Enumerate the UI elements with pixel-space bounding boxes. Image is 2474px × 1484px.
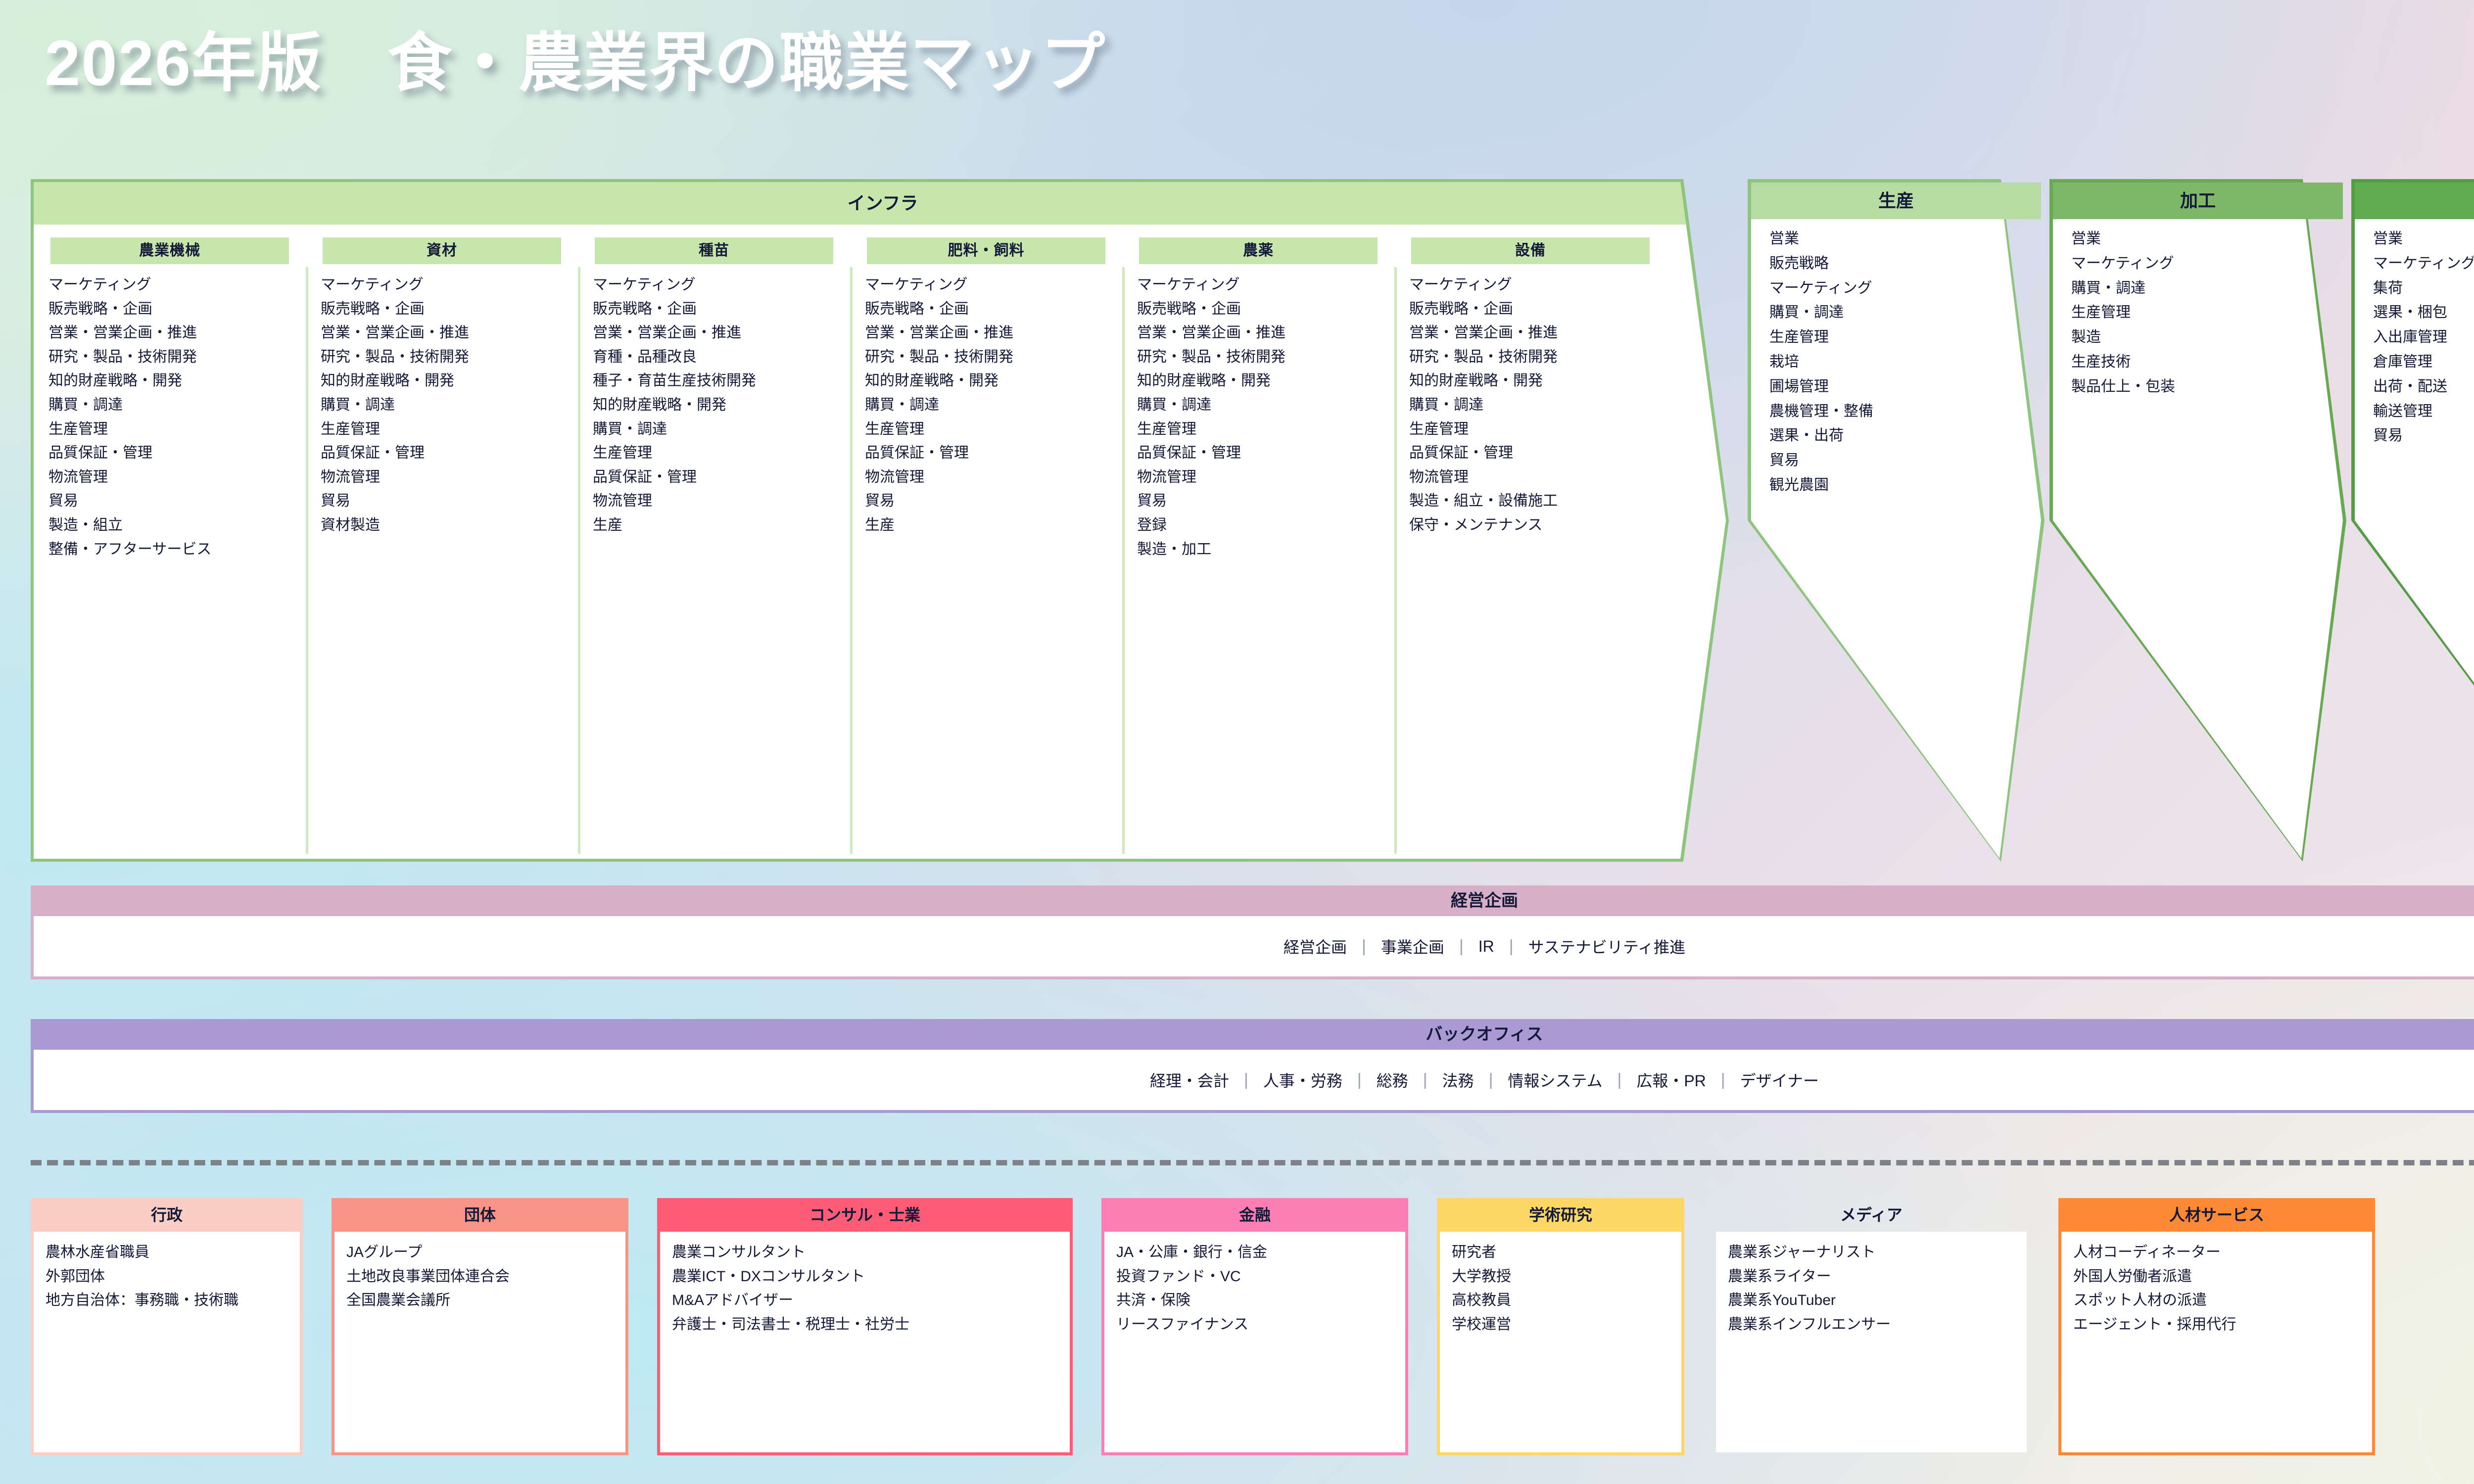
job-item: 登録	[1137, 513, 1394, 538]
job-item: 製造・組立	[48, 513, 306, 538]
card-job-list: 人材コーディネーター外国人労働者派遣スポット人材の派遣エージェント・採用代行	[2073, 1241, 2368, 1337]
job-item: 農業系YouTuber	[1728, 1289, 2023, 1313]
card-header: 行政	[31, 1198, 303, 1232]
job-item: 外国人労働者派遣	[2073, 1265, 2368, 1289]
band-item: 事業企画	[1366, 935, 1459, 958]
job-item: 貿易	[865, 489, 1122, 513]
job-item: 製造	[2071, 325, 2336, 350]
job-item: 生産管理	[2071, 300, 2336, 325]
job-item: 生産管理	[865, 417, 1122, 442]
job-item: 営業・営業企画・推進	[865, 321, 1122, 345]
job-item: 購買・調達	[865, 393, 1122, 417]
section-divider	[31, 1160, 2474, 1165]
job-item: 知的財産戦略・開発	[1409, 369, 1666, 393]
job-item: 農業系ライター	[1728, 1265, 2023, 1289]
item-separator: |	[1721, 1070, 1725, 1090]
job-item: 営業・営業企画・推進	[1409, 321, 1666, 345]
job-item: 営業・営業企画・推進	[1137, 321, 1394, 345]
sector-card: 金融JA・公庫・銀行・信金投資ファンド・VC共済・保険リースファイナンス	[1101, 1198, 1408, 1455]
job-item: 販売戦略・企画	[593, 297, 850, 322]
band-header: バックオフィス	[31, 1019, 2474, 1050]
sector-card: 学術研究研究者大学教授高校教員学校運営	[1437, 1198, 1684, 1455]
job-item: 投資ファンド・VC	[1116, 1265, 1401, 1289]
job-item: 整備・アフターサービス	[48, 538, 306, 562]
item-separator: |	[1509, 937, 1514, 956]
job-item: 研究・製品・技術開発	[48, 345, 306, 370]
job-item: 営業	[2071, 227, 2336, 251]
page-title: 2026年版 食・農業界の職業マップ	[45, 11, 1106, 104]
job-item: 栽培	[1769, 350, 2035, 374]
job-item: 品質保証・管理	[321, 441, 578, 465]
job-item: 生産	[593, 513, 850, 538]
job-item: 購買・調達	[321, 393, 578, 417]
infra-job-list: マーケティング販売戦略・企画営業・営業企画・推進研究・製品・技術開発知的財産戦略…	[306, 269, 578, 538]
infra-column: 設備マーケティング販売戦略・企画営業・営業企画・推進研究・製品・技術開発知的財産…	[1394, 225, 1666, 863]
job-item: 学校運営	[1452, 1313, 1677, 1337]
infra-column: 農薬マーケティング販売戦略・企画営業・営業企画・推進研究・製品・技術開発知的財産…	[1122, 225, 1394, 863]
band-header: 経営企画	[31, 885, 2474, 916]
job-item: 農業系ジャーナリスト	[1728, 1241, 2023, 1265]
job-item: 購買・調達	[1769, 300, 2035, 325]
job-item: 物流管理	[321, 465, 578, 490]
infra-column-title: 農業機械	[50, 237, 289, 264]
card-header: 人材サービス	[2058, 1198, 2375, 1232]
band-item-list: 経営企画|事業企画|IR|サステナビリティ推進	[31, 916, 2474, 976]
value-chain-row: インフラ 農業機械マーケティング販売戦略・企画営業・営業企画・推進研究・製品・技…	[31, 179, 2474, 867]
sector-card: 団体JAグループ土地改良事業団体連合会全国農業会議所	[332, 1198, 628, 1455]
infra-columns: 農業機械マーケティング販売戦略・企画営業・営業企画・推進研究・製品・技術開発知的…	[34, 225, 1666, 863]
infra-job-list: マーケティング販売戦略・企画営業・営業企画・推進育種・品種改良種子・育苗生産技術…	[578, 269, 850, 538]
job-item: 購買・調達	[2071, 276, 2336, 301]
band-2: バックオフィス経理・会計|人事・労務|総務|法務|情報システム|広報・PR|デザ…	[31, 1019, 2474, 1113]
band-item: 総務	[1362, 1068, 1423, 1091]
infra-header: インフラ	[34, 182, 1732, 225]
job-item: 研究者	[1452, 1241, 1677, 1265]
item-separator: |	[1459, 937, 1464, 956]
job-item: マーケティング	[48, 273, 306, 297]
infra-column-title: 農薬	[1139, 237, 1378, 264]
support-sector-cards: 行政農林水産省職員外郭団体地方自治体：事務職・技術職団体JAグループ土地改良事業…	[31, 1198, 2474, 1455]
job-item: 貿易	[1769, 448, 2035, 473]
band-item: IR	[1464, 937, 1509, 956]
job-item: 購買・調達	[1409, 393, 1666, 417]
job-item: 生産技術	[2071, 350, 2336, 374]
job-item: 研究・製品・技術開発	[321, 345, 578, 370]
job-item: マーケティング	[593, 273, 850, 297]
card-job-list: JAグループ土地改良事業団体連合会全国農業会議所	[346, 1241, 621, 1313]
job-item: 物流管理	[593, 489, 850, 513]
band-item-list: 経理・会計|人事・労務|総務|法務|情報システム|広報・PR|デザイナー	[31, 1050, 2474, 1110]
job-item: 製造・加工	[1137, 538, 1394, 562]
job-item: 集荷	[2373, 276, 2474, 301]
infra-job-list: マーケティング販売戦略・企画営業・営業企画・推進研究・製品・技術開発知的財産戦略…	[850, 269, 1122, 538]
job-item: JA・公庫・銀行・信金	[1116, 1241, 1401, 1265]
job-item: 品質保証・管理	[1137, 441, 1394, 465]
card-header: 学術研究	[1437, 1198, 1684, 1232]
stage-header: 加工	[2053, 183, 2343, 219]
job-item: 共済・保険	[1116, 1289, 1401, 1313]
job-item: 地方自治体：事務職・技術職	[46, 1289, 296, 1313]
job-item: 土地改良事業団体連合会	[346, 1265, 621, 1289]
card-header: 団体	[332, 1198, 628, 1232]
job-item: 研究・製品・技術開発	[1137, 345, 1394, 370]
infra-block: インフラ 農業機械マーケティング販売戦略・企画営業・営業企画・推進研究・製品・技…	[34, 182, 1726, 859]
job-item: 購買・調達	[48, 393, 306, 417]
job-item: 保守・メンテナンス	[1409, 513, 1666, 538]
item-separator: |	[1617, 1070, 1621, 1090]
job-item: マーケティング	[865, 273, 1122, 297]
job-item: 高校教員	[1452, 1289, 1677, 1313]
job-item: 販売戦略・企画	[1137, 297, 1394, 322]
stage-header: 流通	[2355, 183, 2474, 219]
job-item: 倉庫管理	[2373, 350, 2474, 374]
job-item: 資材製造	[321, 513, 578, 538]
stage-header: 生産	[1751, 183, 2041, 219]
job-item: 営業・営業企画・推進	[593, 321, 850, 345]
job-item: 生産管理	[1769, 325, 2035, 350]
job-item: 大学教授	[1452, 1265, 1677, 1289]
card-header: コンサル・士業	[657, 1198, 1073, 1232]
job-item: 製品仕上・包装	[2071, 374, 2336, 399]
job-item: 研究・製品・技術開発	[1409, 345, 1666, 370]
stage-1: 生産営業販売戦略マーケティング購買・調達生産管理栽培圃場管理農機管理・整備選果・…	[1748, 179, 2045, 862]
job-item: 選果・梱包	[2373, 300, 2474, 325]
job-item: 物流管理	[865, 465, 1122, 490]
job-item: 物流管理	[48, 465, 306, 490]
infra-column-title: 資材	[323, 237, 561, 264]
band-item: 法務	[1427, 1068, 1489, 1091]
item-separator: |	[1244, 1070, 1248, 1090]
job-item: 圃場管理	[1769, 374, 2035, 399]
sector-card: メディア農業系ジャーナリスト農業系ライター農業系YouTuber農業系インフルエ…	[1713, 1198, 2030, 1455]
band-item: サステナビリティ推進	[1514, 935, 1700, 958]
job-item: 育種・品種改良	[593, 345, 850, 370]
job-item: 品質保証・管理	[48, 441, 306, 465]
stage-job-list: 営業販売戦略マーケティング購買・調達生産管理栽培圃場管理農機管理・整備選果・出荷…	[1769, 227, 2035, 498]
card-job-list: JA・公庫・銀行・信金投資ファンド・VC共済・保険リースファイナンス	[1116, 1241, 1401, 1337]
job-item: 品質保証・管理	[865, 441, 1122, 465]
band-item: 広報・PR	[1621, 1068, 1720, 1091]
job-item: 販売戦略・企画	[1409, 297, 1666, 322]
job-item: 出荷・配送	[2373, 374, 2474, 399]
job-item: マーケティング	[2071, 251, 2336, 276]
job-item: 営業	[2373, 227, 2474, 251]
job-item: JAグループ	[346, 1241, 621, 1265]
job-item: マーケティング	[321, 273, 578, 297]
job-item: 知的財産戦略・開発	[321, 369, 578, 393]
job-item: マーケティング	[1137, 273, 1394, 297]
job-item: エージェント・採用代行	[2073, 1313, 2368, 1337]
job-item: 製造・組立・設備施工	[1409, 489, 1666, 513]
job-item: 生産管理	[1137, 417, 1394, 442]
sector-card: コンサル・士業農業コンサルタント農業ICT・DXコンサルタントM&Aアドバイザー…	[657, 1198, 1073, 1455]
card-header: 金融	[1101, 1198, 1408, 1232]
job-item: 営業・営業企画・推進	[321, 321, 578, 345]
infra-job-list: マーケティング販売戦略・企画営業・営業企画・推進研究・製品・技術開発知的財産戦略…	[1122, 269, 1394, 561]
band-item: デザイナー	[1725, 1068, 1834, 1091]
job-item: 外郭団体	[46, 1265, 296, 1289]
job-item: マーケティング	[1769, 276, 2035, 301]
job-item: 農業系インフルエンサー	[1728, 1313, 2023, 1337]
job-item: 農業ICT・DXコンサルタント	[672, 1265, 1066, 1289]
sector-card: 行政農林水産省職員外郭団体地方自治体：事務職・技術職	[31, 1198, 303, 1455]
job-item: 入出庫管理	[2373, 325, 2474, 350]
job-item: 知的財産戦略・開発	[865, 369, 1122, 393]
job-item: 種子・育苗生産技術開発	[593, 369, 850, 393]
card-job-list: 農業コンサルタント農業ICT・DXコンサルタントM&Aアドバイザー弁護士・司法書…	[672, 1241, 1066, 1337]
sector-card: 人材サービス人材コーディネーター外国人労働者派遣スポット人材の派遣エージェント・…	[2058, 1198, 2375, 1455]
job-item: 観光農園	[1769, 473, 2035, 498]
job-item: 農業コンサルタント	[672, 1241, 1066, 1265]
item-separator: |	[1423, 1070, 1427, 1090]
infra-column-title: 種苗	[595, 237, 833, 264]
card-header: メディア	[1713, 1198, 2030, 1232]
job-item: 販売戦略・企画	[48, 297, 306, 322]
job-item: 営業・営業企画・推進	[48, 321, 306, 345]
infra-column-title: 設備	[1411, 237, 1650, 264]
job-item: 知的財産戦略・開発	[593, 393, 850, 417]
job-item: M&Aアドバイザー	[672, 1289, 1066, 1313]
job-item: 販売戦略・企画	[865, 297, 1122, 322]
stage-3: 流通営業マーケティング集荷選果・梱包入出庫管理倉庫管理出荷・配送輸送管理貿易	[2351, 179, 2474, 862]
job-item: 生産管理	[1409, 417, 1666, 442]
band-item: 情報システム	[1493, 1068, 1617, 1091]
band-1: 経営企画経営企画|事業企画|IR|サステナビリティ推進	[31, 885, 2474, 979]
card-job-list: 農林水産省職員外郭団体地方自治体：事務職・技術職	[46, 1241, 296, 1313]
job-item: 購買・調達	[593, 417, 850, 442]
infra-column: 肥料・飼料マーケティング販売戦略・企画営業・営業企画・推進研究・製品・技術開発知…	[850, 225, 1122, 863]
job-item: 全国農業会議所	[346, 1289, 621, 1313]
job-item: 物流管理	[1409, 465, 1666, 490]
job-item: 販売戦略・企画	[321, 297, 578, 322]
job-item: 販売戦略	[1769, 251, 2035, 276]
job-item: 営業	[1769, 227, 2035, 251]
card-job-list: 研究者大学教授高校教員学校運営	[1452, 1241, 1677, 1337]
job-item: リースファイナンス	[1116, 1313, 1401, 1337]
job-item: 農機管理・整備	[1769, 399, 2035, 424]
item-separator: |	[1362, 937, 1366, 956]
job-item: マーケティング	[2373, 251, 2474, 276]
job-item: 生産	[865, 513, 1122, 538]
stage-job-list: 営業マーケティング購買・調達生産管理製造生産技術製品仕上・包装	[2071, 227, 2336, 399]
job-item: スポット人材の派遣	[2073, 1289, 2368, 1313]
stage-2: 加工営業マーケティング購買・調達生産管理製造生産技術製品仕上・包装	[2049, 179, 2346, 862]
job-item: 知的財産戦略・開発	[1137, 369, 1394, 393]
band-item: 人事・労務	[1248, 1068, 1357, 1091]
job-item: 人材コーディネーター	[2073, 1241, 2368, 1265]
job-item: 品質保証・管理	[593, 465, 850, 490]
item-separator: |	[1357, 1070, 1362, 1090]
job-item: 輸送管理	[2373, 399, 2474, 424]
infra-job-list: マーケティング販売戦略・企画営業・営業企画・推進研究・製品・技術開発知的財産戦略…	[1394, 269, 1666, 538]
job-item: 農林水産省職員	[46, 1241, 296, 1265]
job-item: 生産管理	[593, 441, 850, 465]
band-item: 経理・会計	[1135, 1068, 1244, 1091]
job-item: 品質保証・管理	[1409, 441, 1666, 465]
job-item: 物流管理	[1137, 465, 1394, 490]
job-item: 選果・出荷	[1769, 423, 2035, 448]
job-item: 貿易	[48, 489, 306, 513]
job-item: 貿易	[321, 489, 578, 513]
band-item: 経営企画	[1269, 935, 1362, 958]
infra-column: 資材マーケティング販売戦略・企画営業・営業企画・推進研究・製品・技術開発知的財産…	[306, 225, 578, 863]
job-item: 購買・調達	[1137, 393, 1394, 417]
job-item: 生産管理	[321, 417, 578, 442]
job-item: 弁護士・司法書士・税理士・社労士	[672, 1313, 1066, 1337]
infra-column: 農業機械マーケティング販売戦略・企画営業・営業企画・推進研究・製品・技術開発知的…	[34, 225, 306, 863]
job-item: 知的財産戦略・開発	[48, 369, 306, 393]
infra-column: 種苗マーケティング販売戦略・企画営業・営業企画・推進育種・品種改良種子・育苗生産…	[578, 225, 850, 863]
job-item: 研究・製品・技術開発	[865, 345, 1122, 370]
job-item: マーケティング	[1409, 273, 1666, 297]
item-separator: |	[1489, 1070, 1493, 1090]
stage-job-list: 営業マーケティング集荷選果・梱包入出庫管理倉庫管理出荷・配送輸送管理貿易	[2373, 227, 2474, 448]
card-job-list: 農業系ジャーナリスト農業系ライター農業系YouTuber農業系インフルエンサー	[1728, 1241, 2023, 1337]
infra-job-list: マーケティング販売戦略・企画営業・営業企画・推進研究・製品・技術開発知的財産戦略…	[34, 269, 306, 561]
job-item: 貿易	[2373, 423, 2474, 448]
job-item: 生産管理	[48, 417, 306, 442]
infra-column-title: 肥料・飼料	[867, 237, 1105, 264]
job-item: 貿易	[1137, 489, 1394, 513]
